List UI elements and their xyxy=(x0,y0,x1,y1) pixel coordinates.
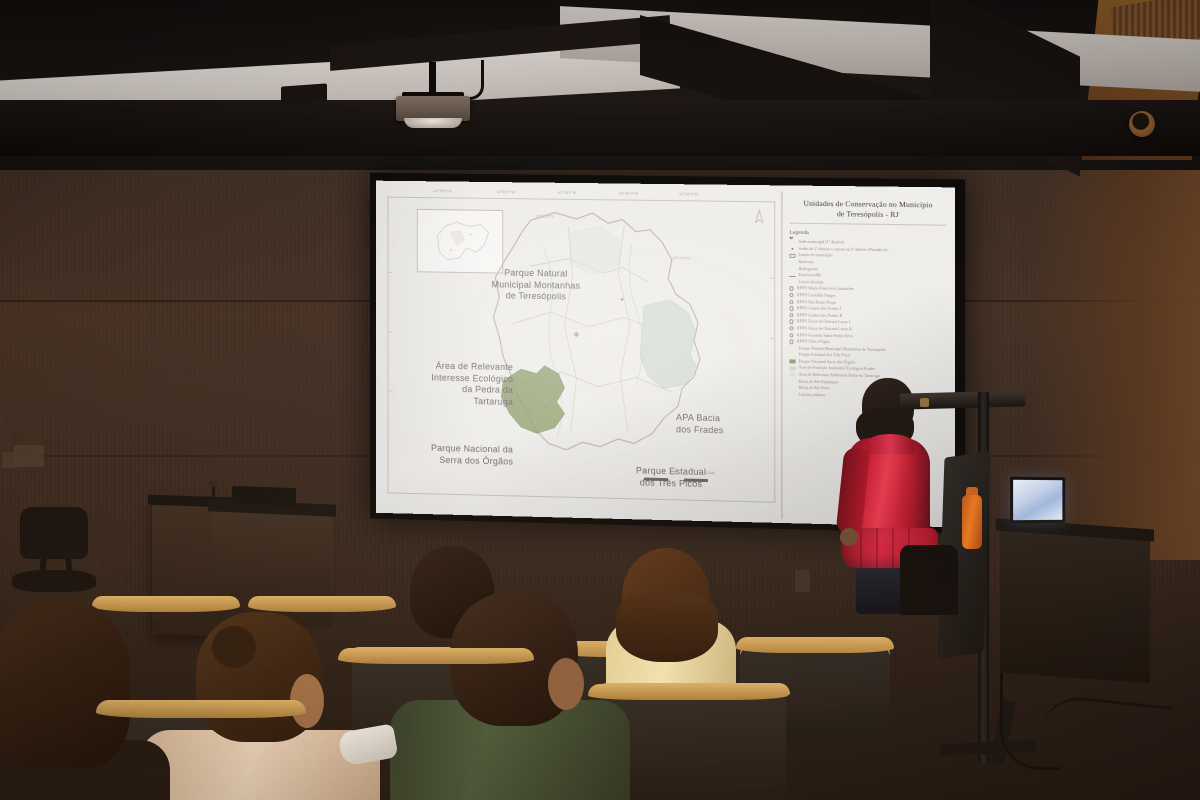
ceiling-beam xyxy=(0,100,1200,156)
scalebar-segment xyxy=(684,479,708,482)
seat-back-row[interactable] xyxy=(248,596,396,612)
water-bottle xyxy=(962,495,982,549)
graticule-label: -42°40'0"W xyxy=(618,191,638,195)
peplum-pleat xyxy=(876,528,878,568)
stand-knob[interactable] xyxy=(920,398,929,407)
slide-title-line2: de Teresópolis - RJ xyxy=(837,209,899,219)
map-panel: -42°55'0"W -42°50'0"W -42°45'0"W -42°40'… xyxy=(380,187,783,519)
speaker-icon xyxy=(1129,111,1155,137)
wall-outlet xyxy=(14,445,44,467)
peplum-pleat xyxy=(860,528,862,568)
legend-swatch-circle xyxy=(789,300,793,304)
legend-swatch-blank xyxy=(789,393,795,397)
legend-swatch-fill-pale2 xyxy=(789,373,795,377)
map-tick xyxy=(387,331,392,332)
slide-title-line1: Unidades de Conservação no Município xyxy=(803,199,932,210)
legend-swatch-fill-green xyxy=(789,360,795,364)
map-label-arie: Área de Relevante Interesse Ecológico da… xyxy=(395,360,513,408)
municipality-map xyxy=(474,206,722,480)
stand-arm xyxy=(900,390,1025,409)
presenter-collar xyxy=(866,434,914,454)
chair-right[interactable] xyxy=(900,545,958,615)
desk-monitor xyxy=(232,486,296,506)
legend-swatch-blank xyxy=(789,386,795,390)
person-hair xyxy=(0,600,130,768)
projector-mount xyxy=(429,62,436,96)
projector-lens xyxy=(404,118,462,128)
legend-swatch-circle xyxy=(789,326,793,330)
seat-armrest[interactable] xyxy=(96,700,306,718)
slide-title: Unidades de Conservação no Município de … xyxy=(789,199,946,226)
legend-swatch-blank xyxy=(789,379,795,383)
graticule-label: -42°50'0"W xyxy=(495,190,515,194)
legend-swatch-square xyxy=(789,254,795,258)
map-label-apa: APA Bacia dos Frades xyxy=(676,412,776,437)
scalebar-segment xyxy=(644,478,668,481)
legend-swatch-circle xyxy=(789,339,793,343)
seat-armrest[interactable] xyxy=(338,648,534,664)
scalebar-end: 10 km xyxy=(706,471,715,475)
legend-swatch-fill-pale xyxy=(789,366,795,370)
wall-outlet xyxy=(2,452,15,468)
legend-item-label: Limites urbanos xyxy=(799,392,826,399)
map-tick xyxy=(387,272,392,273)
side-table xyxy=(1000,523,1150,683)
person-hair-bun xyxy=(212,626,256,668)
office-chair[interactable] xyxy=(20,507,88,559)
legend-swatch-circle xyxy=(789,286,793,290)
legend-swatch-circle xyxy=(789,306,793,310)
map-label-pnso: Parque Nacional da Serra dos Órgãos xyxy=(387,442,513,468)
north-arrow-icon xyxy=(753,209,765,225)
legend-swatch-blank xyxy=(789,353,795,357)
map-tick xyxy=(387,390,392,391)
scalebar-mid: 5 xyxy=(674,470,676,474)
office-chair-seat[interactable] xyxy=(12,570,96,592)
wall-outlet xyxy=(795,570,810,592)
map-label-pnmmt: Parque Natural Municipal Montanhas de Te… xyxy=(472,267,600,303)
power-cable xyxy=(1037,693,1174,776)
legend-swatch-circle xyxy=(789,320,793,324)
person-ear xyxy=(548,658,584,710)
graticule-label: -42°35'0"W xyxy=(678,192,698,196)
legend-swatch-blank xyxy=(789,260,795,264)
person-hair xyxy=(616,592,718,662)
legend-swatch-circle xyxy=(789,293,793,297)
legend-heading: Legenda xyxy=(789,230,946,238)
microphone-icon xyxy=(208,480,218,487)
map-tick xyxy=(770,338,775,339)
legend-swatch-dot xyxy=(789,247,795,251)
laptop[interactable] xyxy=(1010,477,1065,524)
seat-armrest[interactable] xyxy=(588,684,788,700)
legend-swatch-circle xyxy=(789,313,793,317)
legend-list: Sede municipal (1º distrito)Sedes de 2º … xyxy=(789,239,946,401)
legend-swatch-blank xyxy=(789,346,795,350)
map-scalebar: 0 5 10 km xyxy=(644,474,722,486)
legend-swatch-blank xyxy=(789,280,795,284)
laptop-display xyxy=(1013,480,1062,520)
legend-swatch-blank xyxy=(789,267,795,271)
graticule-label: -42°55'0"W xyxy=(432,189,452,193)
presenter-hand xyxy=(840,528,858,546)
legend-swatch-line xyxy=(789,276,795,277)
legend-swatch-circle xyxy=(789,333,793,337)
auditorium-scene: -42°55'0"W -42°50'0"W -42°45'0"W -42°40'… xyxy=(0,0,1200,800)
map-tick xyxy=(770,278,775,279)
peplum-pleat xyxy=(892,528,894,568)
legend-swatch-star xyxy=(789,240,795,244)
scalebar-start: 0 xyxy=(644,470,646,474)
graticule-label: -42°45'0"W xyxy=(557,191,577,195)
ceiling-fixture xyxy=(281,83,327,104)
